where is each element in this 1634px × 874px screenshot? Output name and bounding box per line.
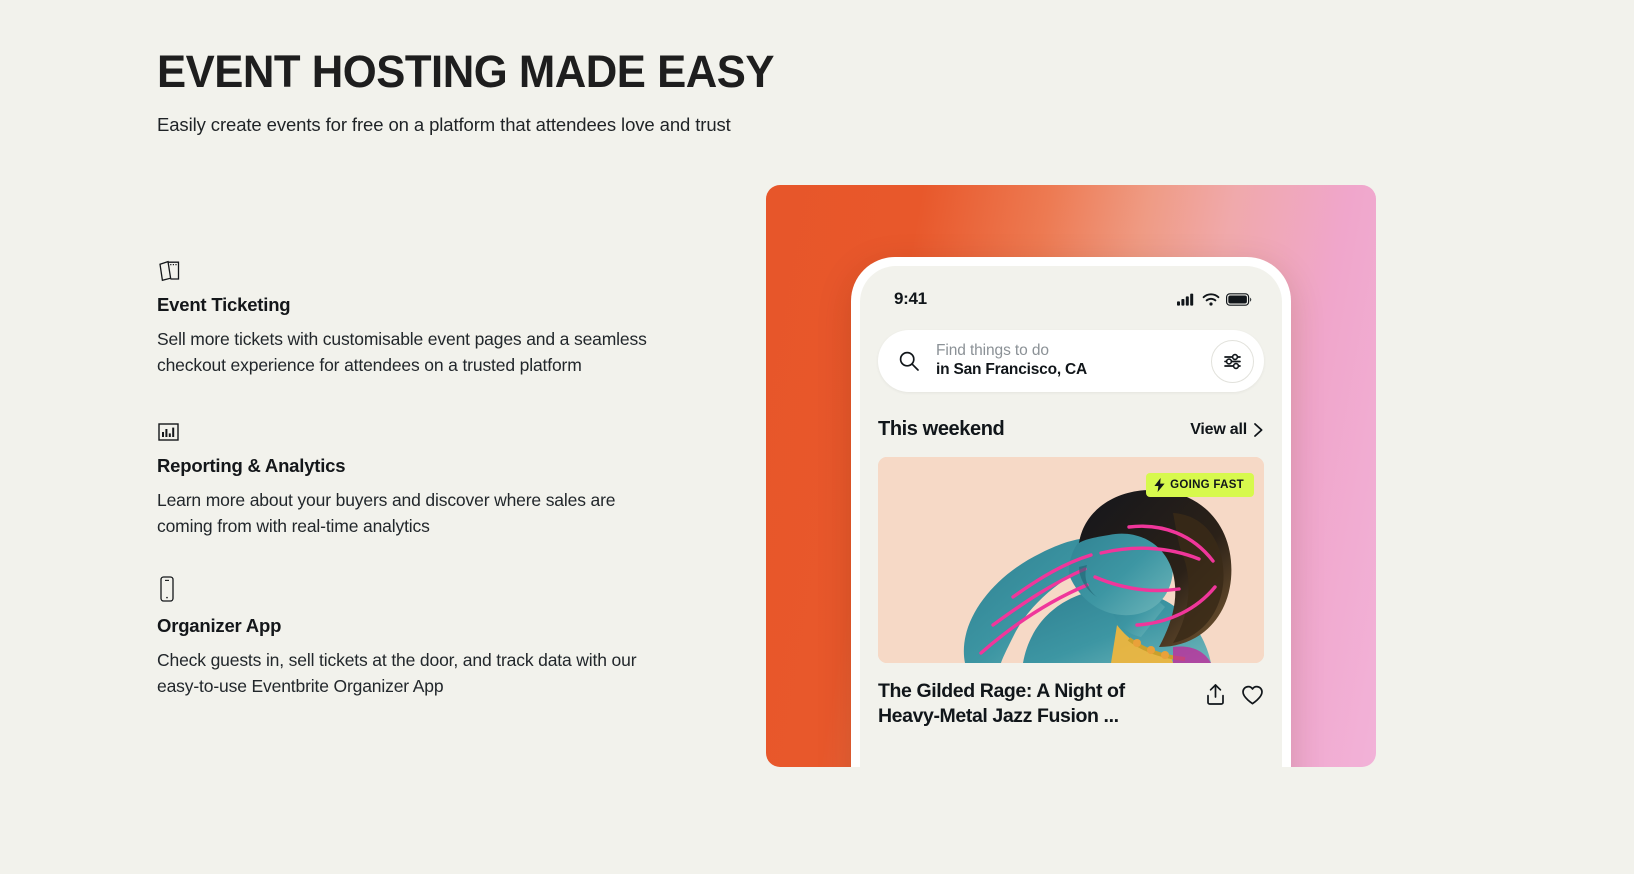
filter-sliders-icon xyxy=(1222,351,1243,372)
chevron-right-icon xyxy=(1253,422,1264,438)
view-all-label: View all xyxy=(1190,421,1247,439)
page-title: EVENT HOSTING MADE EASY xyxy=(157,48,836,95)
event-title: The Gilded Rage: A Night of Heavy-Metal … xyxy=(878,679,1170,730)
event-card-footer: The Gilded Rage: A Night of Heavy-Metal … xyxy=(878,679,1264,730)
view-all-link[interactable]: View all xyxy=(1190,421,1264,439)
bar-chart-icon xyxy=(157,413,717,443)
status-badge: GOING FAST xyxy=(1146,473,1254,497)
feature-organizer-app: Organizer App Check guests in, sell tick… xyxy=(157,573,717,700)
search-bar[interactable]: Find things to do in San Francisco, CA xyxy=(878,330,1264,392)
event-image: GOING FAST xyxy=(878,457,1264,663)
search-placeholder: Find things to do xyxy=(936,342,1211,361)
feature-event-ticketing: Event Ticketing Sell more tickets with c… xyxy=(157,252,717,379)
status-bar-clock: 9:41 xyxy=(894,289,927,309)
feature-description: Learn more about your buyers and discove… xyxy=(157,487,669,540)
event-card-actions xyxy=(1204,679,1264,706)
marketing-page: EVENT HOSTING MADE EASY Easily create ev… xyxy=(0,0,1634,874)
lightning-bolt-icon xyxy=(1154,478,1165,492)
feature-list: Event Ticketing Sell more tickets with c… xyxy=(157,252,717,700)
feature-title: Organizer App xyxy=(157,615,717,637)
search-input[interactable]: Find things to do in San Francisco, CA xyxy=(936,342,1211,380)
search-location: in San Francisco, CA xyxy=(936,361,1211,380)
heart-icon[interactable] xyxy=(1241,684,1264,706)
tickets-icon xyxy=(157,252,717,282)
event-card[interactable]: GOING FAST The Gilded Rage: A Night of H… xyxy=(878,457,1264,730)
feature-reporting-analytics: Reporting & Analytics Learn more about y… xyxy=(157,413,717,540)
badge-label: GOING FAST xyxy=(1170,479,1244,491)
hero-section: EVENT HOSTING MADE EASY Easily create ev… xyxy=(157,48,857,136)
app-promo-panel: 9:41 xyxy=(766,185,1376,767)
feature-description: Sell more tickets with customisable even… xyxy=(157,326,669,379)
phone-screen: 9:41 xyxy=(860,266,1282,767)
feature-title: Event Ticketing xyxy=(157,294,717,316)
share-icon[interactable] xyxy=(1204,683,1227,706)
mobile-phone-icon xyxy=(157,573,717,603)
page-subtitle: Easily create events for free on a platf… xyxy=(157,114,857,136)
search-icon xyxy=(898,350,920,372)
wifi-icon xyxy=(1202,293,1220,306)
section-header: This weekend View all xyxy=(878,418,1264,441)
phone-mockup: 9:41 xyxy=(851,257,1291,767)
status-bar-icons xyxy=(1177,293,1252,306)
battery-icon xyxy=(1226,293,1252,306)
cellular-signal-icon xyxy=(1177,293,1196,306)
status-bar: 9:41 xyxy=(860,266,1282,318)
filter-button[interactable] xyxy=(1211,340,1254,383)
feature-description: Check guests in, sell tickets at the doo… xyxy=(157,647,669,700)
feature-title: Reporting & Analytics xyxy=(157,455,717,477)
section-title: This weekend xyxy=(878,418,1004,441)
